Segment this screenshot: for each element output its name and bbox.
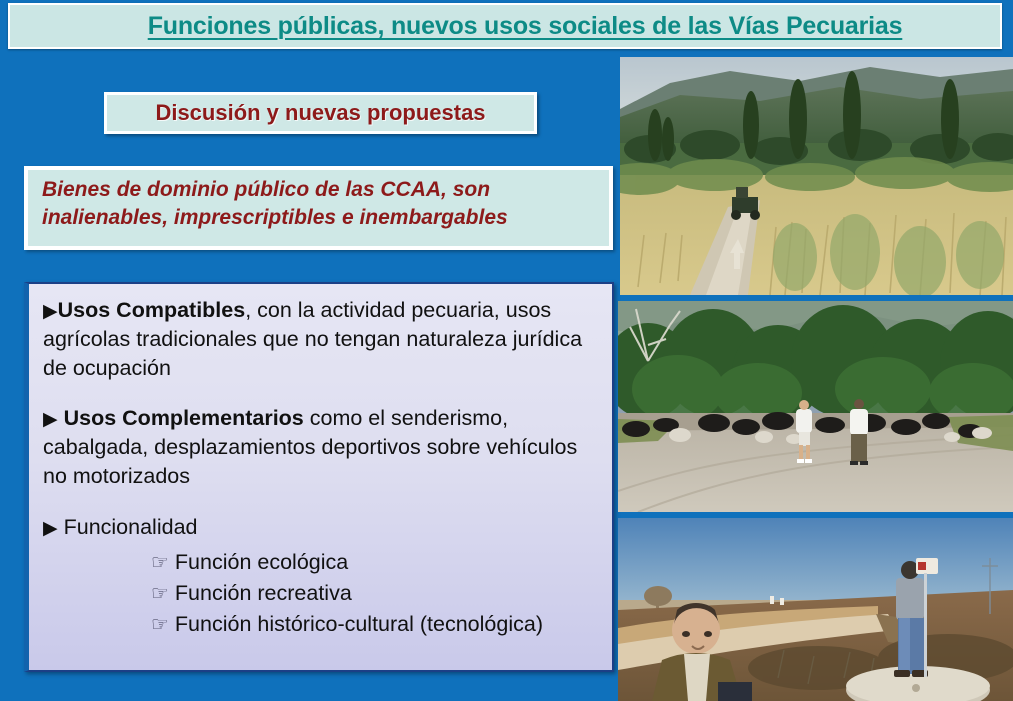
list-item: ☞ Función ecológica: [43, 547, 602, 578]
highlight-line-2: inalienables, imprescriptibles e inembar…: [42, 204, 595, 232]
triangle-bullet-icon: ▶: [43, 518, 58, 539]
photo-herders-goats-road: [618, 301, 1013, 512]
triangle-bullet-icon: ▶: [43, 301, 58, 322]
sublist-label-historico: Función histórico-cultural (tecnológica): [175, 612, 543, 636]
bullet-funcionalidad: ▶ Funcionalidad: [43, 513, 602, 542]
subtitle-text: Discusión y nuevas propuestas: [155, 100, 485, 126]
pointing-hand-icon: ☞: [151, 583, 169, 605]
content-panel: ▶Usos Compatibles, con la actividad pecu…: [24, 282, 614, 672]
bullet-usos-complementarios: ▶ Usos Complementarios como el senderism…: [43, 404, 602, 492]
pointing-hand-icon: ☞: [151, 614, 169, 636]
pointing-hand-icon: ☞: [151, 552, 169, 574]
list-item: ☞ Función recreativa: [43, 578, 602, 609]
bullet-lead-compatibles: Usos Compatibles: [58, 298, 246, 322]
sublist-label-recreativa: Función recreativa: [175, 581, 352, 605]
slide-title-banner: Funciones públicas, nuevos usos sociales…: [8, 3, 1002, 49]
photo-rural-road-tractor: [620, 57, 1013, 295]
highlight-box: Bienes de dominio público de las CCAA, s…: [24, 166, 613, 250]
photo-surveyors-field: [618, 518, 1013, 701]
funcionalidad-sublist: ☞ Función ecológica ☞ Función recreativa…: [43, 547, 602, 641]
page-title: Funciones públicas, nuevos usos sociales…: [108, 12, 903, 41]
list-item: ☞ Función histórico-cultural (tecnológic…: [43, 609, 602, 640]
bullet-lead-complementarios: Usos Complementarios: [64, 406, 304, 430]
bullet-rest-funcionalidad: Funcionalidad: [64, 515, 198, 539]
sublist-label-ecologica: Función ecológica: [175, 550, 348, 574]
highlight-line-1: Bienes de dominio público de las CCAA, s…: [42, 176, 595, 204]
bullet-usos-compatibles: ▶Usos Compatibles, con la actividad pecu…: [43, 296, 602, 384]
subtitle-box: Discusión y nuevas propuestas: [104, 92, 537, 134]
triangle-bullet-icon: ▶: [43, 409, 58, 430]
slide-root: Funciones públicas, nuevos usos sociales…: [0, 0, 1013, 701]
